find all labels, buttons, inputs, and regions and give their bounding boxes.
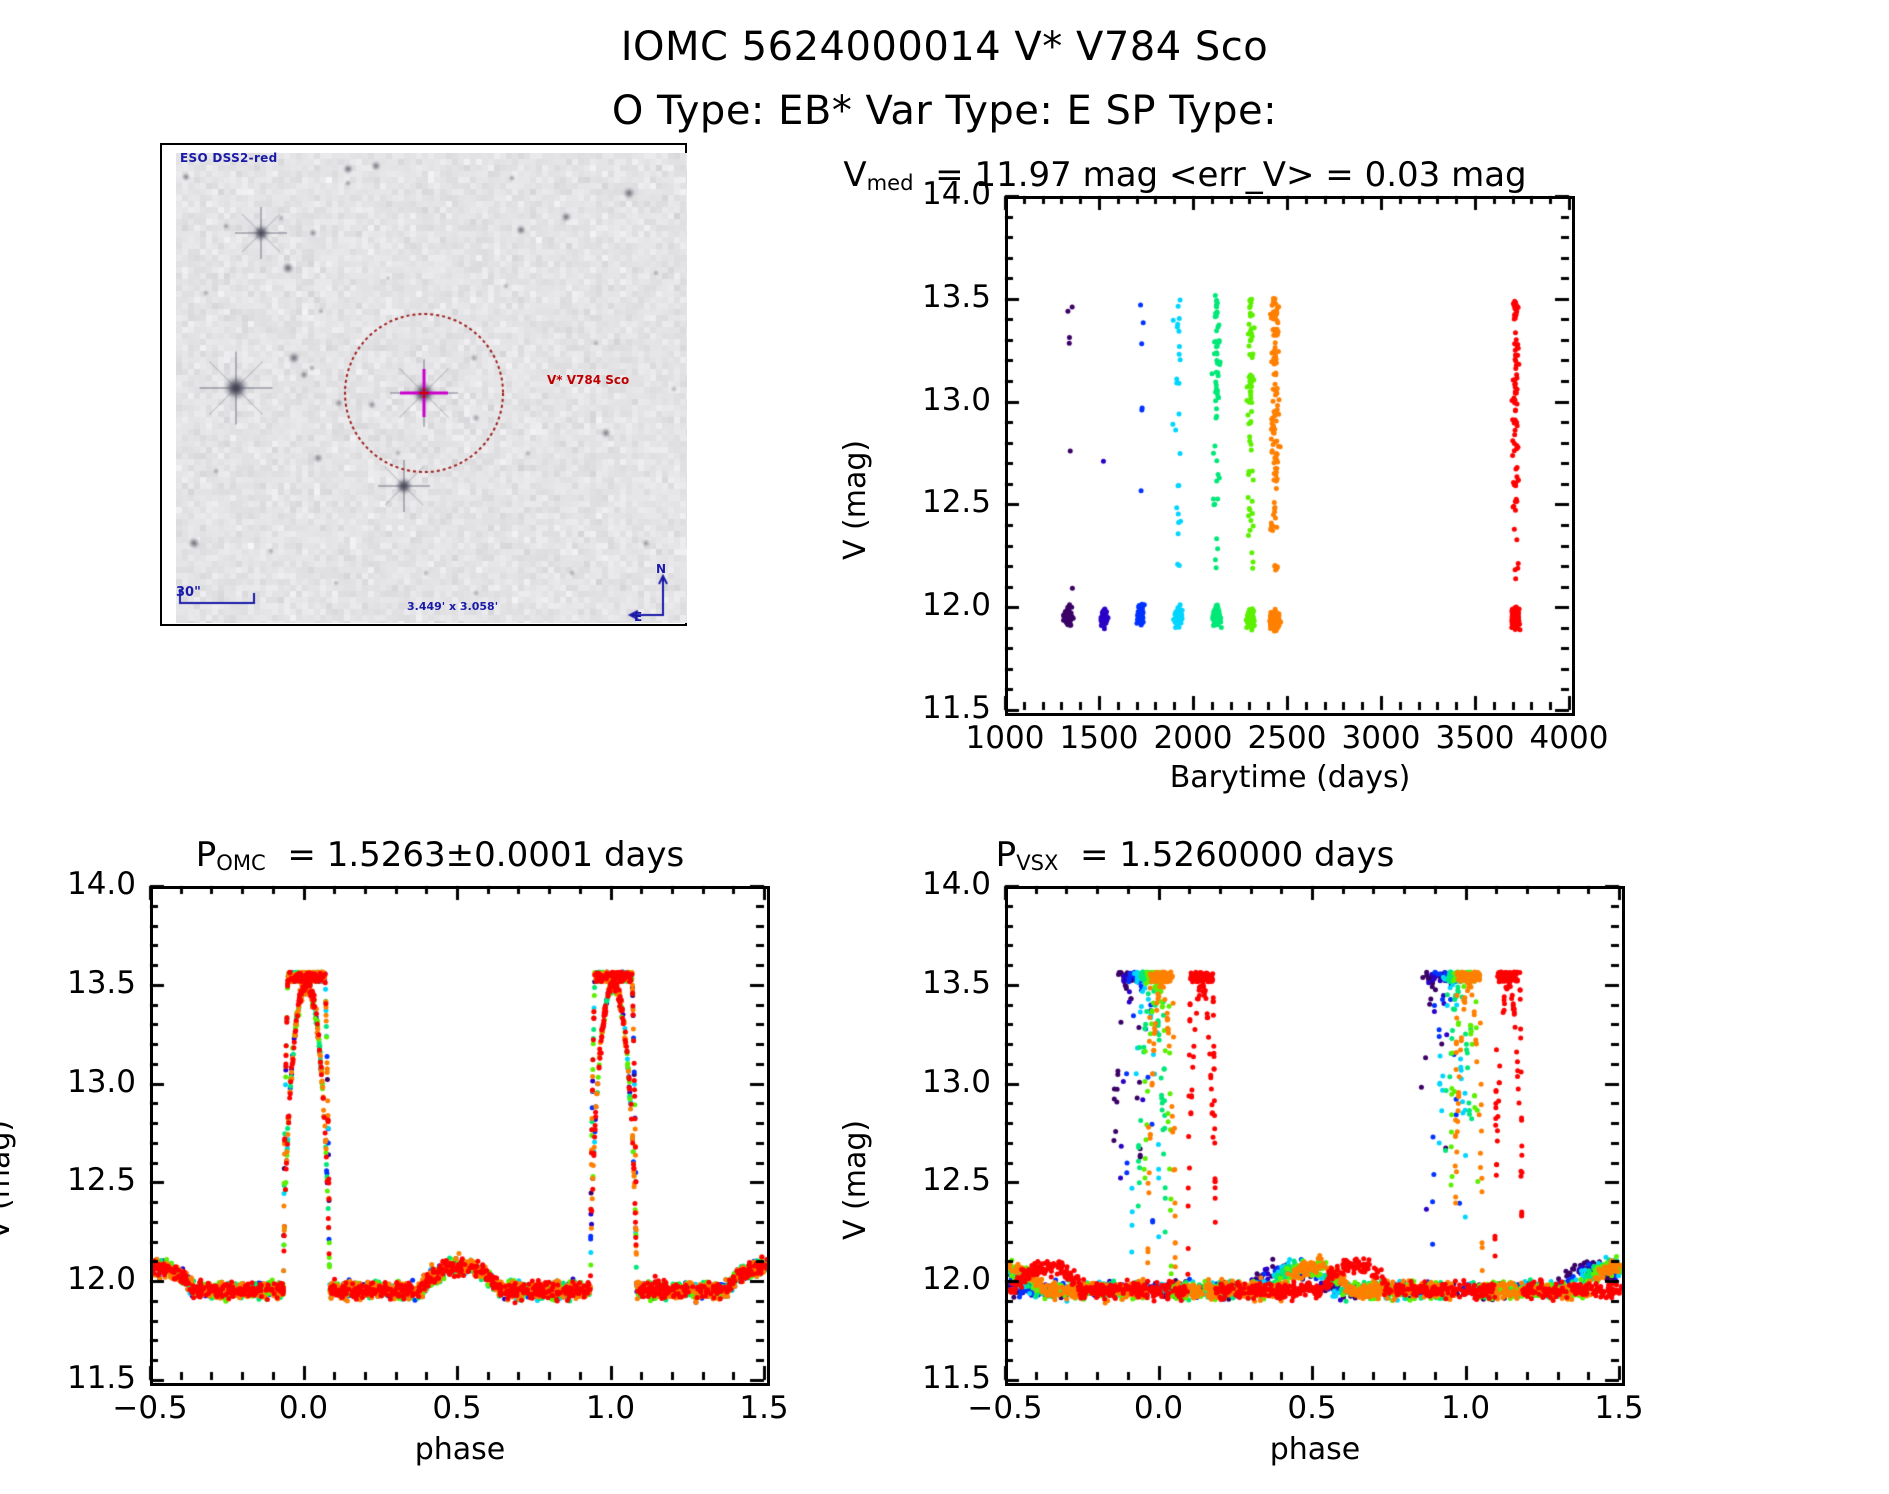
finding-chart-image [176,153,687,623]
ytick-label: 12.0 [895,587,991,623]
vmed-label: V [843,155,866,195]
scale-bar-label: 30" [176,585,201,600]
xtick-label: 0.5 [415,1390,499,1426]
finding-chart-object-label: V* V784 Sco [547,373,629,387]
ytick-label: 12.5 [895,484,991,520]
xtick-label: 3000 [1339,720,1423,756]
phase-omc-axis-ticks [120,856,800,1416]
ytick-label: 12.0 [40,1261,136,1297]
object-types-line: O Type: EB* Var Type: E SP Type: [0,88,1889,134]
lightcurve-axis-ticks [975,166,1605,746]
lightcurve-ylabel: V (mag) [838,440,873,560]
phase-vsx-axis-ticks [975,856,1655,1416]
ytick-label: 14.0 [895,866,991,902]
xtick-label: 1.5 [722,1390,806,1426]
xtick-label: 0.5 [1270,1390,1354,1426]
xtick-label: 4000 [1527,720,1611,756]
ytick-label: 14.0 [895,176,991,212]
phase-vsx-xlabel: phase [1005,1432,1625,1467]
ytick-label: 12.5 [895,1162,991,1198]
ytick-label: 11.5 [40,1360,136,1396]
ytick-label: 12.0 [895,1261,991,1297]
ytick-label: 14.0 [40,866,136,902]
xtick-label: 1.0 [1424,1390,1508,1426]
phase-omc-ylabel: V (mag) [0,1120,17,1240]
ytick-label: 13.0 [895,1064,991,1100]
phase-vsx-ylabel: V (mag) [838,1120,873,1240]
xtick-label: 0.0 [262,1390,346,1426]
ytick-label: 12.5 [40,1162,136,1198]
ytick-label: 11.5 [895,1360,991,1396]
finding-chart-panel: ESO DSS2-red V* V784 Sco 3.449' x 3.058'… [160,143,687,626]
xtick-label: 3500 [1433,720,1517,756]
xtick-label: 1.0 [569,1390,653,1426]
field-of-view-label: 3.449' x 3.058' [407,600,498,613]
survey-label: ESO DSS2-red [180,151,278,165]
ytick-label: 13.0 [40,1064,136,1100]
ytick-label: 13.5 [895,965,991,1001]
ytick-label: 13.5 [40,965,136,1001]
ytick-label: 11.5 [895,690,991,726]
xtick-label: 2500 [1245,720,1329,756]
xtick-label: 1.5 [1577,1390,1661,1426]
xtick-label: 2000 [1151,720,1235,756]
phase-omc-xlabel: phase [150,1432,770,1467]
east-arrow-label: E [634,610,642,624]
page-title: IOMC 5624000014 V* V784 Sco [0,24,1889,70]
lightcurve-xlabel: Barytime (days) [1005,760,1575,795]
xtick-label: 1500 [1057,720,1141,756]
ytick-label: 13.5 [895,279,991,315]
xtick-label: 0.0 [1117,1390,1201,1426]
ytick-label: 13.0 [895,382,991,418]
north-arrow-label: N [656,562,666,576]
